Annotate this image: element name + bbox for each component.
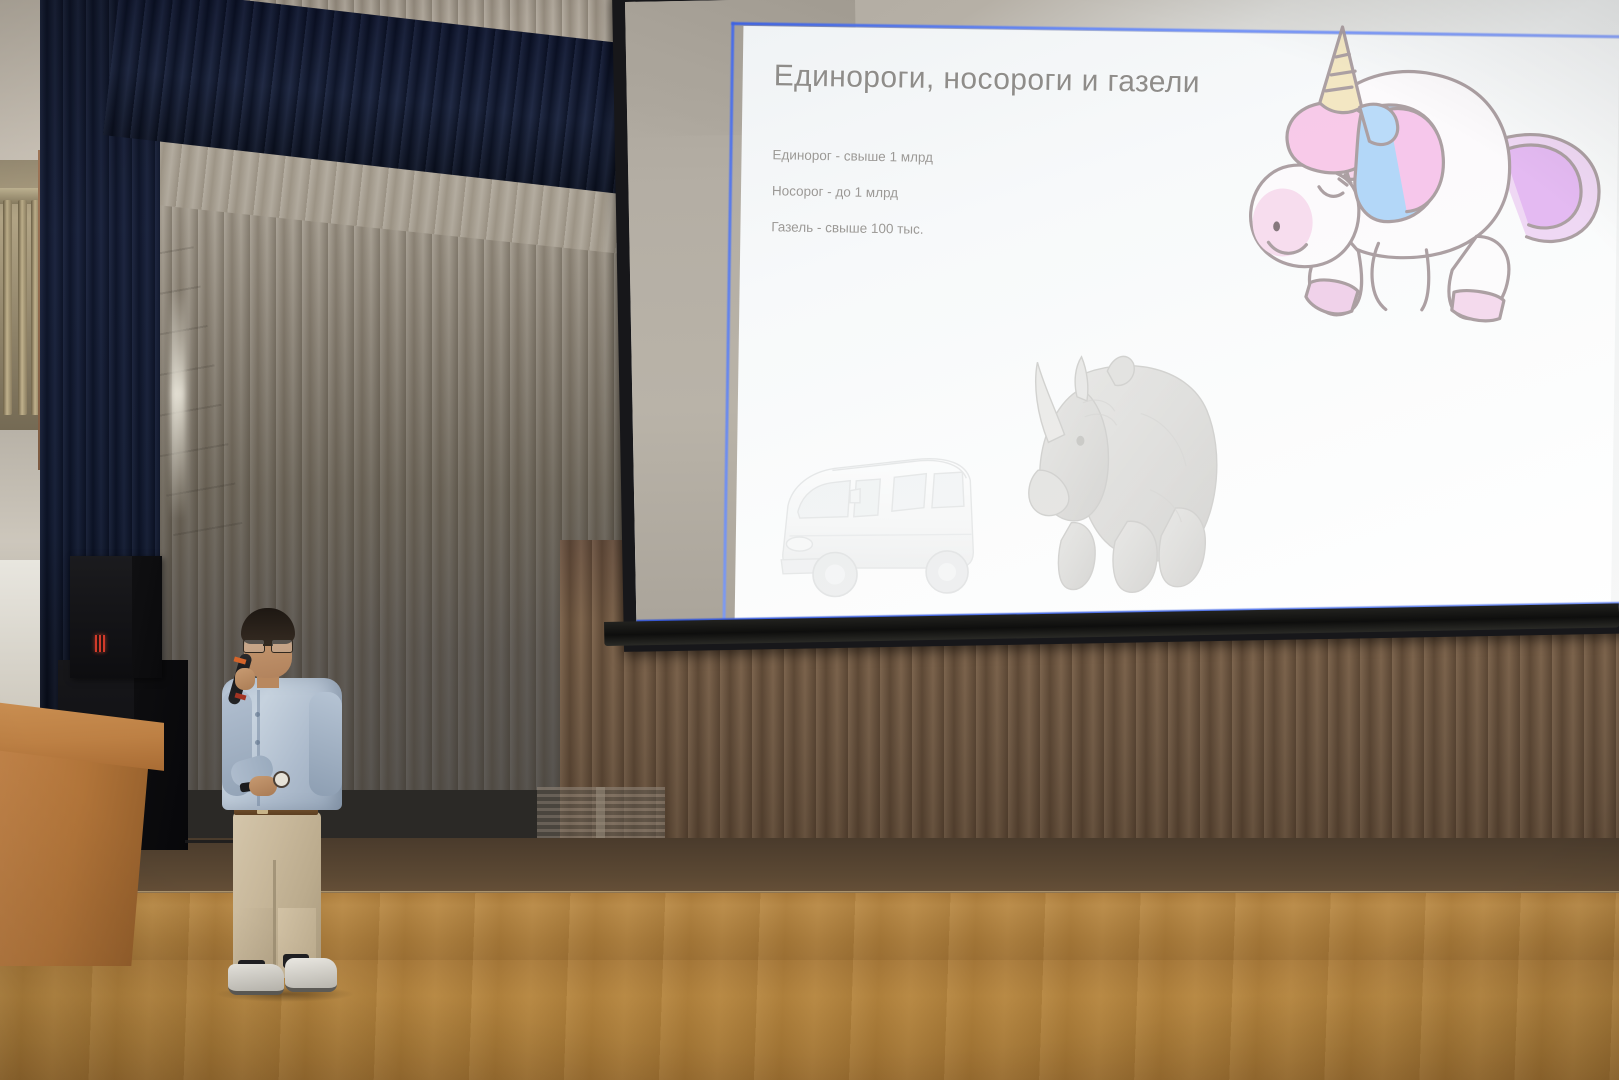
rhino-photo — [978, 291, 1232, 604]
baluster — [18, 200, 27, 415]
window-light-glow — [170, 290, 186, 520]
vent-divider — [596, 787, 605, 839]
lectern-body-front — [0, 736, 150, 966]
shirt-button — [255, 740, 260, 745]
pa-speaker-top-face — [70, 556, 132, 678]
presenter — [205, 608, 355, 1008]
white-wall-panel — [0, 560, 40, 710]
van-photo — [761, 432, 983, 610]
wristwatch — [273, 771, 290, 788]
projection-screen-surface: Единороги, носороги и газели Единорог - … — [625, 0, 1619, 630]
presenter-right-shoe — [285, 958, 337, 992]
glasses-icon — [243, 639, 293, 651]
presentation-photo-scene: Единороги, носороги и газели Единорог - … — [0, 0, 1619, 1080]
presenter-hand-holding-mic — [235, 668, 255, 690]
trouser-seam — [273, 860, 276, 972]
baluster — [3, 200, 12, 415]
speaker-led-indicator — [95, 635, 105, 652]
unicorn-illustration — [1189, 0, 1613, 374]
shirt-button — [255, 712, 260, 717]
balcony-railing — [0, 160, 42, 450]
presenter-right-arm — [309, 692, 342, 796]
presenter-left-shoe — [228, 964, 284, 995]
